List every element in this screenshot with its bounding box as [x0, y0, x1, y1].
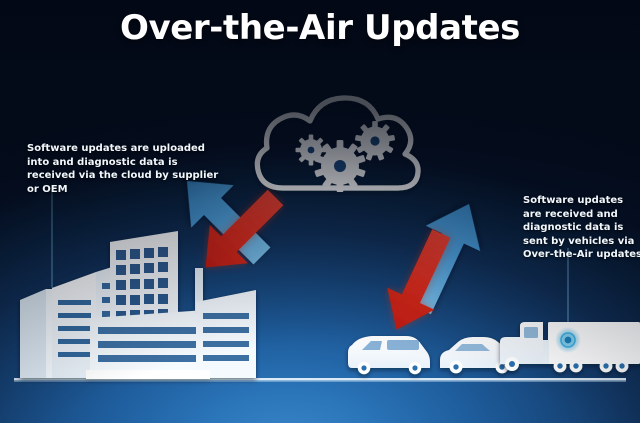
infographic-canvas: Over-the-Air Updates Software updates ar… — [0, 0, 640, 423]
page-title: Over-the-Air Updates — [0, 8, 640, 48]
caption-right: Software updates are received and diagno… — [523, 194, 640, 262]
caption-left: Software updates are uploaded into and d… — [27, 142, 222, 196]
